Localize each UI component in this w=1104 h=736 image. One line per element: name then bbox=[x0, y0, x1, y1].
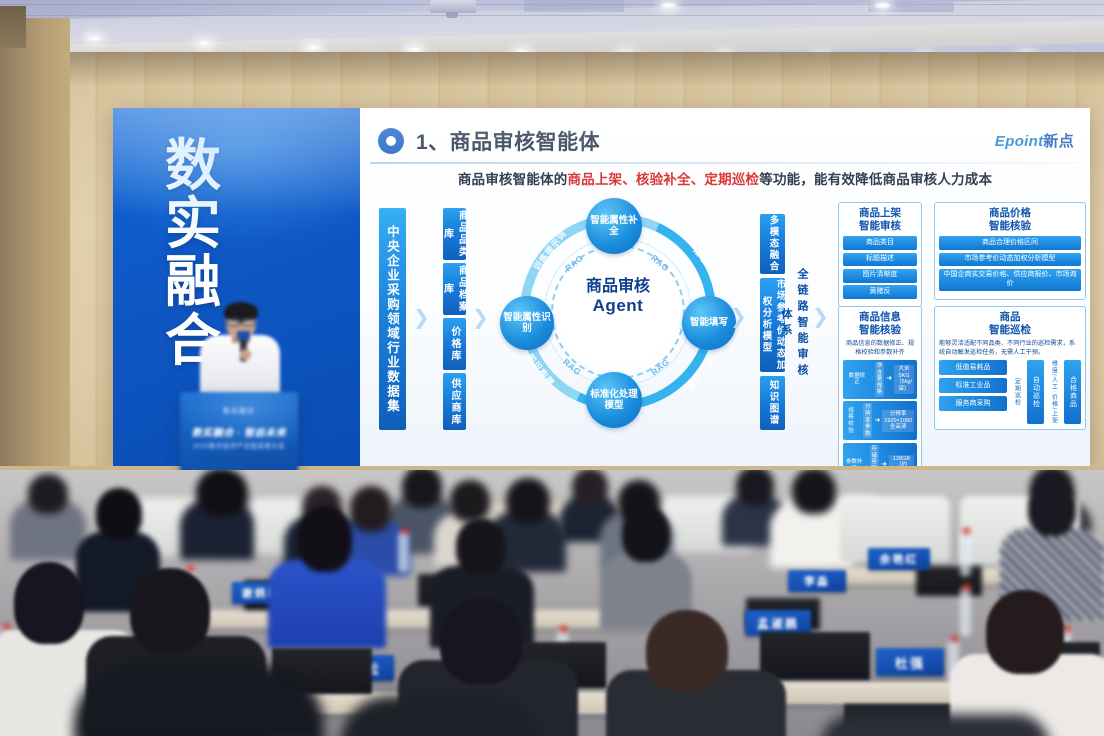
flow-to: 大米5KG（5kg/袋） bbox=[894, 365, 914, 393]
card-smart-patrol: 商品 智能巡检 能够灵活适配不同品类、不同行业的巡检需求，系统自动触发巡检任务，… bbox=[934, 306, 1086, 430]
agent-label-line2: Agent bbox=[544, 296, 692, 316]
agent-label-line1: 商品审核 bbox=[544, 278, 692, 296]
person-head bbox=[28, 474, 68, 514]
card-title-line1: 商品价格 bbox=[939, 207, 1081, 220]
card-item: 标题描述 bbox=[843, 253, 917, 267]
title-divider bbox=[370, 162, 1082, 164]
glasses-icon bbox=[227, 318, 255, 324]
patrol-side-tags: 定期巡检 bbox=[1010, 360, 1024, 424]
flow-from: 分辨率参数 bbox=[863, 403, 873, 438]
person-head bbox=[622, 506, 670, 562]
person-head bbox=[450, 480, 490, 522]
data-source-bar: 中央企业采购领域行业数据集 bbox=[379, 208, 406, 430]
ring-node-top: 智能属性补全 bbox=[586, 198, 642, 254]
wall-corner-shadow bbox=[0, 6, 26, 48]
audience-person bbox=[10, 474, 86, 556]
brand-name-cn: 新点 bbox=[1043, 133, 1074, 150]
chevron-right-icon: ❯ bbox=[730, 304, 747, 329]
nameplate-yu-yanhong: 余艳红 bbox=[868, 548, 930, 570]
card-title-line2: 智能核验 bbox=[843, 324, 917, 337]
person-body bbox=[74, 666, 324, 736]
card-flow-row: 规格校验 ⋮ 分辨率参数 ➜ 分辨率1920×1080全高清 bbox=[843, 401, 917, 440]
podium-title: 数实融合 · 智启未来 bbox=[180, 424, 298, 439]
audience-area: 谢炳林 童劲松 杜辉 李淼 余艳红 孟淑鹃 杜强 bbox=[0, 470, 1104, 736]
podium-logo: 数实融合 bbox=[180, 406, 298, 416]
card-note: 商品信息的数据修正、规格校验和参数补齐 bbox=[843, 340, 917, 357]
audience-person-nearest bbox=[74, 666, 324, 736]
card-item: 市场参考价动态加权分析模型 bbox=[939, 253, 1081, 267]
audience-person-nearest bbox=[820, 714, 1050, 736]
patrol-tag-column: 低值易耗品 标准工业品 服务商采购 bbox=[939, 360, 1007, 424]
person-head bbox=[646, 610, 728, 692]
chevron-right-icon: ❯ bbox=[812, 304, 829, 329]
nameplate-du-qiang: 杜强 bbox=[876, 648, 944, 676]
ring-node-right: 智能填写 bbox=[682, 296, 736, 350]
source-bar-2: 价格库 bbox=[443, 318, 466, 370]
person-head bbox=[298, 506, 352, 572]
person-body bbox=[268, 560, 386, 648]
person-head bbox=[736, 470, 774, 506]
audience-person-blue bbox=[268, 506, 386, 636]
person-head bbox=[440, 598, 522, 684]
patrol-mid-note: 维度/人工·价格/上架 bbox=[1047, 360, 1061, 424]
slide-content: 1、商品审核智能体 Epoint新点 商品审核智能体的商品上架、核验补全、定期巡… bbox=[360, 108, 1090, 466]
capability-cards: 商品上架 智能审核 商品类目 标题描述 图片清晰度 黄赌反 商品价格 智能核验 bbox=[838, 202, 1088, 448]
subtitle-prefix: 商品审核智能体的 bbox=[458, 172, 568, 187]
subtitle-highlight: 商品上架、核验补全、定期巡检 bbox=[567, 172, 759, 187]
ceiling-seam bbox=[0, 15, 1104, 16]
patrol-tag: 服务商采购 bbox=[939, 396, 1007, 411]
source-bar-1: 商品档案库 bbox=[443, 263, 466, 315]
speaker-presenter bbox=[196, 305, 282, 401]
ring-node-bottom: 标准化处理模型 bbox=[586, 372, 642, 428]
person-head bbox=[130, 568, 210, 654]
patrol-auto-tag: 自动巡检 bbox=[1027, 360, 1044, 424]
ceiling bbox=[0, 0, 1104, 58]
person-body bbox=[820, 714, 1050, 736]
wall-top-shadow bbox=[0, 52, 1104, 86]
banner-char-2: 实 bbox=[165, 196, 295, 254]
card-item: 黄赌反 bbox=[843, 285, 917, 299]
downlight bbox=[660, 2, 677, 9]
ceiling-vent bbox=[524, 0, 624, 12]
bullet-circle-icon bbox=[378, 128, 404, 154]
card-title-line1: 商品 bbox=[939, 311, 1081, 324]
source-bar-0: 商品品类库 bbox=[443, 208, 466, 260]
audience-person bbox=[600, 506, 692, 626]
card-title-line1: 商品上架 bbox=[843, 207, 917, 220]
capability-bar-0: 多模态融合 bbox=[760, 214, 785, 274]
brand-name-en: Epoint bbox=[995, 133, 1043, 150]
card-title: 商品上架 智能审核 bbox=[843, 207, 917, 233]
person-body bbox=[340, 696, 540, 736]
arrow-right-icon: ➜ bbox=[886, 375, 892, 383]
ring-node-left: 智能属性识别 bbox=[500, 296, 554, 350]
person-head bbox=[1028, 480, 1076, 536]
chevron-right-icon: ❯ bbox=[413, 305, 430, 330]
slide-diagram: 中央企业采购领域行业数据集 ❯ 商品品类库 商品档案库 价格库 供应商库 ❯ 商… bbox=[360, 200, 1090, 450]
patrol-tag: 低值易耗品 bbox=[939, 360, 1007, 375]
card-title: 商品价格 智能核验 bbox=[939, 207, 1081, 233]
patrol-layout: 低值易耗品 标准工业品 服务商采购 定期巡检 自动巡检 维度/人工·价格/上架 … bbox=[939, 360, 1081, 424]
card-title: 商品信息 智能核验 bbox=[843, 311, 917, 337]
person-head bbox=[96, 488, 142, 540]
card-item: 商品合理价格区间 bbox=[939, 236, 1081, 250]
card-title-line2: 智能核验 bbox=[939, 220, 1081, 233]
flow-key: 规格校验 bbox=[846, 408, 856, 434]
water-bottle bbox=[960, 532, 971, 576]
card-item: 商品类目 bbox=[843, 236, 917, 250]
card-flow-row: 数据修正 ⋮ 净含量规格 ➜ 大米5KG（5kg/袋） bbox=[843, 360, 917, 399]
audience-person-nearest bbox=[340, 696, 540, 736]
card-price-verification: 商品价格 智能核验 商品合理价格区间 市场参考价动态加权分析模型 中国企商实交易… bbox=[934, 202, 1086, 300]
card-title-line1: 商品信息 bbox=[843, 311, 917, 324]
patrol-side-tag: 定期巡检 bbox=[1013, 378, 1022, 406]
downlight bbox=[196, 40, 213, 47]
slide-title: 1、商品审核智能体 bbox=[416, 126, 600, 156]
slide-header: 1、商品审核智能体 Epoint新点 bbox=[378, 126, 1076, 158]
chevron-right-icon: ❯ bbox=[472, 305, 489, 330]
agent-ring-diagram: 商品审核 Agent 智能属性补全 智能填写 标准化处理模型 智能属性识别 RA… bbox=[492, 200, 740, 448]
flow-key: 数据修正 bbox=[846, 373, 868, 386]
flow-dots: ⋮ bbox=[870, 376, 873, 382]
subtitle-suffix: 等功能，能有效降低商品审核人力成本 bbox=[759, 172, 992, 187]
card-product-listing-review: 商品上架 智能审核 商品类目 标题描述 图片清晰度 黄赌反 bbox=[838, 202, 922, 307]
downlight bbox=[86, 35, 103, 42]
speaker-hand bbox=[240, 349, 251, 360]
card-item: 图片清晰度 bbox=[843, 269, 917, 283]
chain-system-label: 全链路智能审核体系 bbox=[792, 262, 810, 386]
banner-char-1: 数 bbox=[165, 138, 295, 196]
podium: 数实融合 数实融合 · 智启未来 2025数字经济产业链发展大会 bbox=[180, 392, 298, 478]
flow-from: 净含量规格 bbox=[875, 362, 885, 397]
card-title: 商品 智能巡检 bbox=[939, 311, 1081, 337]
source-bar-3: 供应商库 bbox=[443, 373, 466, 430]
patrol-result-tag: 合格商品 bbox=[1064, 360, 1081, 424]
epoint-logo: Epoint新点 bbox=[995, 130, 1074, 151]
ceiling-projector bbox=[430, 0, 476, 13]
nameplate-li-miao: 李淼 bbox=[788, 570, 846, 592]
person-head bbox=[792, 470, 836, 514]
capability-column: ❯ 多模态融合 市场参考价动态加权分析模型 知识图谱 全链路智能审核体系 ❯ bbox=[752, 200, 816, 448]
arrow-right-icon: ➜ bbox=[874, 417, 880, 425]
slide-subtitle: 商品审核智能体的商品上架、核验补全、定期巡检等功能，能有效降低商品审核人力成本 bbox=[360, 168, 1090, 188]
downlight bbox=[874, 2, 891, 9]
person-head bbox=[986, 590, 1064, 674]
agent-center-label: 商品审核 Agent bbox=[544, 278, 692, 316]
audience-person-front bbox=[606, 610, 786, 736]
person-head bbox=[456, 518, 506, 576]
conference-hall-scene: 数 实 融 合 1、商品审核智能体 Epoint新点 商品审核智能体的商品上架、… bbox=[0, 0, 1104, 736]
card-note: 能够灵活适配不同品类、不同行业的巡检需求，系统自动触发巡检任务，无需人工干预。 bbox=[939, 340, 1081, 357]
wall-left-column bbox=[0, 18, 70, 488]
water-bottle bbox=[398, 532, 409, 572]
card-title-line2: 智能巡检 bbox=[939, 324, 1081, 337]
person-hair bbox=[204, 470, 248, 514]
capability-bar-2: 知识图谱 bbox=[760, 376, 785, 430]
podium-subtitle: 2025数字经济产业链发展大会 bbox=[180, 440, 298, 450]
audience-person bbox=[196, 470, 254, 514]
card-title-line2: 智能审核 bbox=[843, 220, 917, 233]
flow-dots: ⋮ bbox=[858, 418, 861, 424]
downlight bbox=[305, 44, 322, 51]
card-item: 中国企商实交易价格、供应商报价、市场询价 bbox=[939, 269, 1081, 292]
flow-to: 分辨率1920×1080全高清 bbox=[882, 410, 914, 432]
person-head bbox=[14, 562, 84, 644]
patrol-tag: 标准工业品 bbox=[939, 378, 1007, 393]
